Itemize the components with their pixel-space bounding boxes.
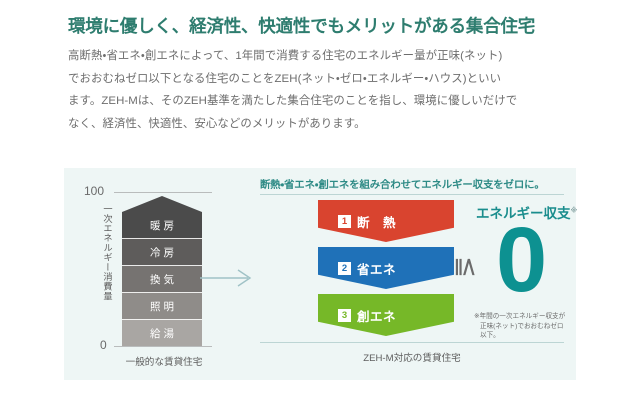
bar-segment: 暖房 [122, 212, 202, 238]
less-than-equal-icon: ≦ [454, 256, 480, 278]
bar-segment: 照明 [122, 292, 202, 319]
measure-steps: 1 断 熱 2 省エネ 3 創エネ [318, 200, 454, 338]
step-number-badge: 2 [338, 262, 351, 275]
house-stacked-bar: 暖房 冷房 換気 照明 給湯 [122, 196, 202, 346]
page-title: 環境に優しく、経済性、快適性でもメリットがある集合住宅 [68, 13, 535, 38]
step-label: 創エネ [357, 306, 396, 325]
footnote-text: ※年間の一次エネルギー収支が 正味(ネット)でおおむねゼロ以下。 [474, 312, 566, 341]
energy-balance-diagram: 100 0 一次エネルギー消費量 暖房 冷房 換気 照明 給湯 一般的な賃貸住宅… [64, 168, 576, 380]
right-arrow-icon [200, 268, 256, 288]
energy-balance-value: 0 [496, 214, 545, 306]
bar-segment: 冷房 [122, 238, 202, 265]
house-roof-shape [122, 196, 202, 212]
primary-energy-chart: 100 0 一次エネルギー消費量 暖房 冷房 換気 照明 給湯 一般的な賃貸住宅 [76, 178, 220, 370]
intro-paragraph: 高断熱・省エネ・創エネによって、1年間で消費する住宅のエネルギー量が正味(ネット… [68, 45, 588, 135]
step-number-badge: 1 [338, 215, 351, 228]
step-label: 断 熱 [357, 212, 400, 231]
axis-top-gridline [114, 192, 212, 193]
axis-tick-min: 0 [100, 338, 107, 352]
panel-rule-bottom [260, 342, 564, 343]
step-number-badge: 3 [338, 309, 351, 322]
step-item-insulation: 1 断 熱 [318, 200, 454, 242]
intro-line-4: なく、経済性、快適性、安心などのメリットがあります。 [68, 113, 588, 136]
bar-segment: 換気 [122, 265, 202, 292]
step-item-energy-saving: 2 省エネ [318, 247, 454, 289]
panel-rule-top [260, 194, 564, 195]
bar-segment: 給湯 [122, 319, 202, 346]
intro-line-1: 高断熱・省エネ・創エネによって、1年間で消費する住宅のエネルギー量が正味(ネット… [68, 45, 588, 68]
footnote-line-2: 正味(ネット)でおおむねゼロ以下。 [474, 322, 566, 341]
step-item-energy-creation: 3 創エネ [318, 294, 454, 336]
intro-line-3: ます。ZEH-Mは、そのZEH基準を満たした集合住宅のことを指し、環境に優しいだ… [68, 90, 588, 113]
axis-tick-max: 100 [84, 184, 104, 198]
axis-baseline [114, 346, 212, 347]
panel-header: 断熱・省エネ・創エネを組み合わせてエネルギー収支をゼロに。 [260, 176, 545, 191]
footnote-line-1: ※年間の一次エネルギー収支が [474, 312, 566, 322]
axis-title-primary-energy: 一次エネルギー消費量 [98, 204, 112, 340]
zeh-m-panel: 断熱・省エネ・創エネを組み合わせてエネルギー収支をゼロに。 1 断 熱 2 省エ… [260, 176, 568, 372]
intro-line-2: でおおむねゼロ以下となる住宅のことをZEH(ネット・ゼロ・エネルギー・ハウス)と… [68, 68, 588, 91]
chart-caption-standard-housing: 一般的な賃貸住宅 [112, 354, 216, 368]
bar-segments: 暖房 冷房 換気 照明 給湯 [122, 212, 202, 346]
panel-caption-zeh-m-housing: ZEH-M対応の賃貸住宅 [260, 350, 564, 364]
footnote-mark: ※ [571, 208, 578, 215]
step-label: 省エネ [357, 259, 396, 278]
